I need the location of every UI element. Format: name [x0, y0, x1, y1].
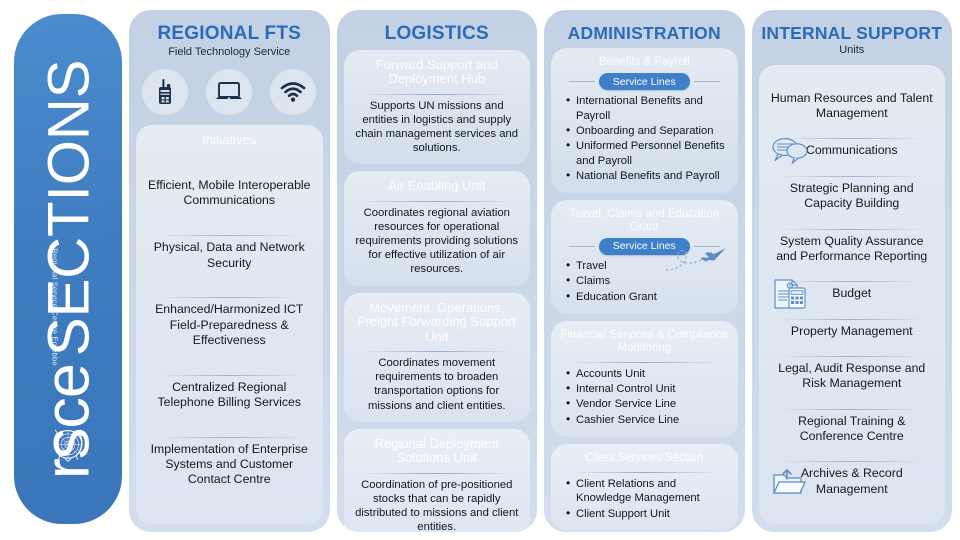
card-air-enabling-unit: Air Enabling Unit Coordinates regional a… [344, 171, 531, 285]
list-item-archives: Archives & Record Management [768, 462, 937, 500]
divider [574, 472, 715, 473]
brand-subtitle: Regional Service Centre Entebbe [51, 248, 60, 366]
badge-connector-left [569, 246, 595, 247]
badge-connector-right [694, 81, 720, 82]
archive-folder-icon [770, 466, 810, 498]
initiatives-list: Efficient, Mobile Interoperable Communic… [145, 150, 314, 515]
bullet-list: Accounts Unit Internal Control Unit Vend… [560, 367, 729, 428]
column-title-logistics: LOGISTICS [344, 18, 531, 44]
column-title-administration: ADMINISTRATION [551, 18, 738, 42]
list-item-label: Communications [806, 143, 898, 157]
service-lines-badge-row: Service Lines [560, 73, 729, 90]
calculator-invoice-icon: $ [770, 277, 810, 311]
list-item-communications: Communications [768, 139, 937, 162]
column-body-internal-support: Human Resources and Talent Management Co… [759, 65, 946, 524]
radio-icon [142, 69, 188, 115]
card-title: Forward Support and Deployment Hub [353, 57, 522, 90]
card-description: Supports UN missions and entities in log… [353, 99, 522, 155]
card-title: Travel, Claims and Education Grant [560, 207, 729, 237]
card-description: Coordinates movement requirements to bro… [353, 356, 522, 412]
list-item: Education Grant [566, 290, 727, 304]
card-title: Air Enabling Unit [353, 178, 522, 197]
list-item-label: Archives & Record Management [801, 466, 903, 495]
column-body-logistics: Forward Support and Deployment Hub Suppo… [344, 50, 531, 524]
column-body-regional-fts: Initiatives Efficient, Mobile Interopera… [136, 125, 323, 524]
card-title: Financial Services & Compliance Monitori… [560, 328, 729, 358]
list-item-label: Budget [832, 286, 871, 300]
column-subtitle-internal-support: Units [759, 44, 946, 56]
status-badge: Service Lines [599, 73, 690, 90]
list-item: System Quality Assurance and Performance… [768, 230, 937, 268]
internal-support-panel: Human Resources and Talent Management Co… [759, 65, 946, 524]
initiatives-panel-title: Initiatives [145, 132, 314, 151]
list-item: Enhanced/Harmonized ICT Field-Preparedne… [145, 298, 314, 351]
infographic-canvas: rsce SECTIONS Regional Service Centre En… [0, 0, 960, 540]
list-item: Property Management [768, 320, 937, 343]
card-travel-claims-education-grant: Travel, Claims and Education Grant Servi… [551, 200, 738, 314]
list-item-budget: $ Budget [768, 282, 937, 305]
list-item: Centralized Regional Telephone Billing S… [145, 376, 314, 414]
initiatives-panel: Initiatives Efficient, Mobile Interopera… [136, 125, 323, 524]
list-item: Client Support Unit [566, 507, 727, 521]
bullet-list: Client Relations and Knowledge Managemen… [560, 477, 729, 522]
list-item: Claims [566, 274, 727, 288]
column-title-regional-fts: REGIONAL FTS [136, 18, 323, 44]
fts-icon-strip [136, 69, 323, 115]
list-item: Uniformed Personnel Benefits and Payroll [566, 139, 727, 168]
column-logistics: LOGISTICS Forward Support and Deployment… [337, 10, 538, 532]
list-item: Regional Training & Conference Centre [768, 410, 937, 448]
card-description: Coordination of pre-positioned stocks th… [353, 478, 522, 534]
list-item: Physical, Data and Network Security [145, 236, 314, 274]
divider [367, 201, 508, 202]
card-title: Benefits & Payroll [560, 55, 729, 72]
list-item: Cashier Service Line [566, 413, 727, 427]
column-administration: ADMINISTRATION Benefits & Payroll Servic… [544, 10, 745, 532]
card-benefits-payroll: Benefits & Payroll Service Lines Interna… [551, 48, 738, 193]
card-regional-deployment-solutions: Regional Deployment Solutions Unit Coord… [344, 429, 531, 540]
card-financial-services-compliance: Financial Services & Compliance Monitori… [551, 321, 738, 437]
un-emblem-icon [42, 420, 94, 472]
card-movement-operations-unit: Movement, Operations, Freight Forwarding… [344, 293, 531, 422]
divider [574, 362, 715, 363]
airplane-icon [664, 240, 730, 274]
list-item: Efficient, Mobile Interoperable Communic… [145, 174, 314, 212]
card-title: Movement, Operations, Freight Forwarding… [353, 300, 522, 348]
badge-connector-left [569, 81, 595, 82]
column-subtitle-regional-fts: Field Technology Service [136, 46, 323, 58]
list-item: National Benefits and Payroll [566, 169, 727, 183]
column-regional-fts: REGIONAL FTS Field Technology Service [129, 10, 330, 532]
wifi-icon [270, 69, 316, 115]
list-item: Client Relations and Knowledge Managemen… [566, 477, 727, 506]
column-internal-support: INTERNAL SUPPORT Units Human Resources a… [752, 10, 953, 532]
list-item: Vendor Service Line [566, 397, 727, 411]
list-item: Implementation of Enterprise Systems and… [145, 438, 314, 491]
list-item: Internal Control Unit [566, 382, 727, 396]
list-item: Human Resources and Talent Management [768, 87, 937, 125]
laptop-icon [206, 69, 252, 115]
list-item: Legal, Audit Response and Risk Managemen… [768, 357, 937, 395]
divider [367, 94, 508, 95]
card-title: Regional Deployment Solutions Unit [353, 436, 522, 469]
card-client-services-section: Client Services Section Client Relations… [551, 444, 738, 531]
card-title: Client Services Section [560, 451, 729, 468]
brand-rail: rsce SECTIONS Regional Service Centre En… [14, 14, 122, 524]
column-title-internal-support: INTERNAL SUPPORT [759, 18, 946, 42]
list-item: Strategic Planning and Capacity Building [768, 177, 937, 215]
bullet-list: International Benefits and Payroll Onboa… [560, 94, 729, 184]
list-item: Accounts Unit [566, 367, 727, 381]
card-description: Coordinates regional aviation resources … [353, 206, 522, 277]
column-body-administration: Benefits & Payroll Service Lines Interna… [551, 48, 738, 524]
speech-bubbles-icon [770, 136, 812, 166]
divider [367, 351, 508, 352]
card-forward-support-hub: Forward Support and Deployment Hub Suppo… [344, 50, 531, 165]
divider [367, 473, 508, 474]
list-item: International Benefits and Payroll [566, 94, 727, 123]
list-item: Onboarding and Separation [566, 124, 727, 138]
internal-support-list: Human Resources and Talent Management Co… [768, 72, 937, 515]
